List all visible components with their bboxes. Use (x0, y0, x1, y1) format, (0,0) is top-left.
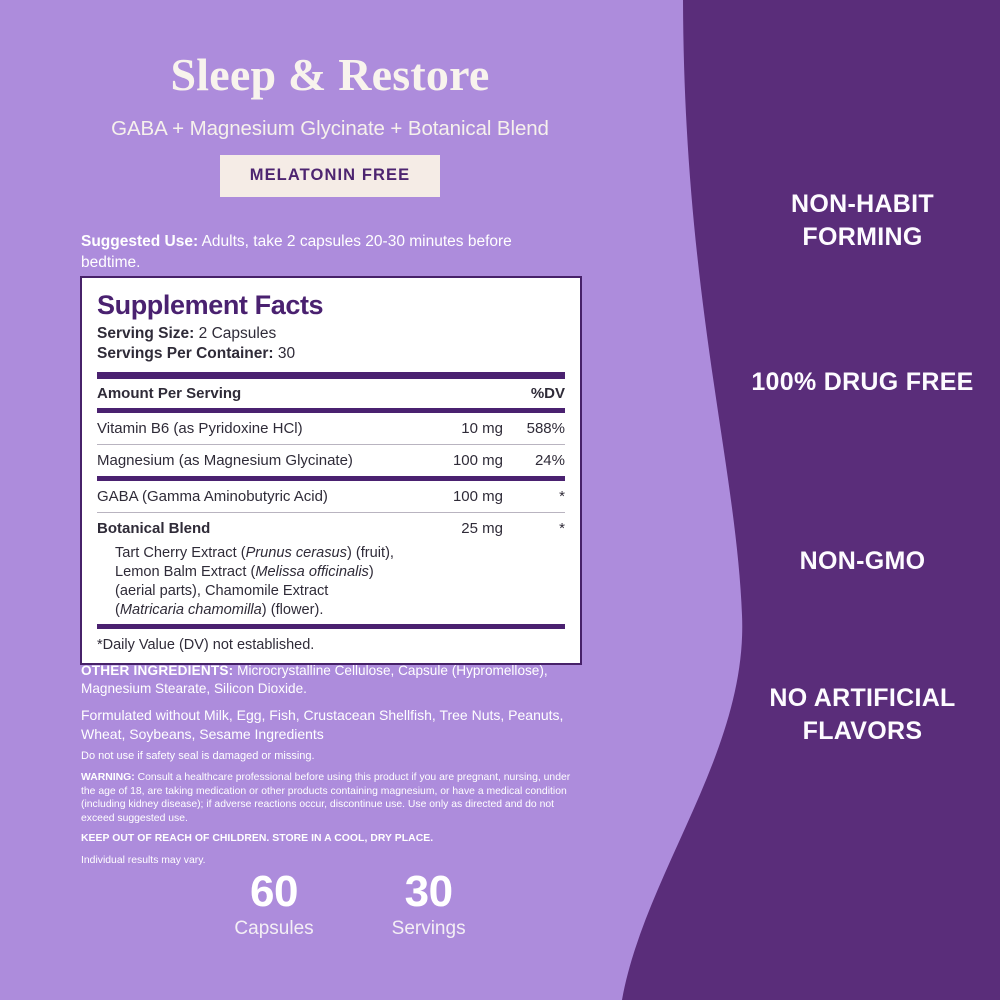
warning-label: WARNING: (81, 772, 135, 783)
dv-header: %DV (503, 384, 565, 403)
daily-value-footnote: *Daily Value (DV) not established. (97, 629, 565, 655)
supplement-facts-panel: Supplement Facts Serving Size: 2 Capsule… (80, 276, 582, 665)
safety-seal-note: Do not use if safety seal is damaged or … (81, 749, 581, 764)
product-subtitle: GABA + Magnesium Glycinate + Botanical B… (0, 116, 660, 142)
serving-size-line: Serving Size: 2 Capsules (97, 324, 565, 344)
keep-out-of-reach-statement: KEEP OUT OF REACH OF CHILDREN. STORE IN … (81, 832, 581, 846)
blend-line: Tart Cherry Extract (Prunus cerasus) (fr… (115, 544, 565, 563)
other-ingredients: OTHER INGREDIENTS: Microcrystalline Cell… (81, 662, 581, 698)
row-name: Botanical Blend (97, 519, 407, 538)
product-title: Sleep & Restore (0, 48, 660, 102)
row-name: Magnesium (as Magnesium Glycinate) (97, 451, 407, 470)
stat-label: Capsules (234, 916, 313, 942)
row-dv: 588% (503, 419, 565, 438)
serving-size-value: 2 Capsules (194, 325, 276, 342)
amount-per-serving-header: Amount Per Serving (97, 384, 407, 403)
divider-thick-top (97, 372, 565, 379)
row-dv: 24% (503, 451, 565, 470)
results-disclaimer: Individual results may vary. (81, 854, 581, 868)
row-name: Vitamin B6 (as Pyridoxine HCl) (97, 419, 407, 438)
servings-per-container-line: Servings Per Container: 30 (97, 344, 565, 364)
row-amount: 25 mg (407, 519, 503, 538)
row-name: GABA (Gamma Aminobutyric Acid) (97, 487, 407, 506)
row-amount: 100 mg (407, 487, 503, 506)
other-ingredients-label: OTHER INGREDIENTS: (81, 663, 233, 678)
suggested-use-label: Suggested Use: (81, 233, 198, 250)
label-front-panel: Sleep & Restore GABA + Magnesium Glycina… (0, 0, 660, 1000)
warning-statement: WARNING: Consult a healthcare profession… (81, 771, 581, 825)
row-amount: 10 mg (407, 419, 503, 438)
stat-label: Servings (392, 916, 466, 942)
badge-container: MELATONIN FREE (0, 155, 660, 197)
suggested-use-text: Suggested Use: Adults, take 2 capsules 2… (81, 231, 533, 273)
claims-panel: NON-HABIT FORMING 100% DRUG FREE NON-GMO… (740, 0, 985, 1000)
table-row: GABA (Gamma Aminobutyric Acid) 100 mg * (97, 481, 565, 512)
botanical-blend-detail: Tart Cherry Extract (Prunus cerasus) (fr… (97, 544, 565, 624)
row-amount: 100 mg (407, 451, 503, 470)
allergen-statement: Formulated without Milk, Egg, Fish, Crus… (81, 706, 581, 743)
servings-per-container-label: Servings Per Container: (97, 345, 274, 362)
warning-text: Consult a healthcare professional before… (81, 772, 570, 824)
stat-servings: 30 Servings (392, 868, 466, 942)
row-dv: * (503, 487, 565, 506)
melatonin-free-badge: MELATONIN FREE (220, 155, 441, 197)
claim-drug-free: 100% DRUG FREE (740, 366, 985, 399)
fine-print-block: OTHER INGREDIENTS: Microcrystalline Cell… (81, 662, 581, 868)
row-dv: * (503, 519, 565, 538)
claim-non-habit-forming: NON-HABIT FORMING (740, 188, 985, 254)
servings-per-container-value: 30 (274, 345, 296, 362)
serving-size-label: Serving Size: (97, 325, 194, 342)
blend-line: (Matricaria chamomilla) (flower). (115, 601, 565, 620)
stat-capsules: 60 Capsules (234, 868, 313, 942)
claim-non-gmo: NON-GMO (740, 545, 985, 578)
table-row: Botanical Blend 25 mg * (97, 513, 565, 544)
stat-number: 60 (234, 868, 313, 916)
blend-line: (aerial parts), Chamomile Extract (115, 582, 565, 601)
supplement-facts-title: Supplement Facts (97, 288, 565, 322)
bottom-stats: 60 Capsules 30 Servings (150, 868, 550, 942)
claim-no-artificial-flavors: NO ARTIFICIAL FLAVORS (740, 682, 985, 748)
table-row: Vitamin B6 (as Pyridoxine HCl) 10 mg 588… (97, 413, 565, 444)
blend-line: Lemon Balm Extract (Melissa officinalis) (115, 563, 565, 582)
table-column-headers: Amount Per Serving %DV (97, 379, 565, 408)
stat-number: 30 (392, 868, 466, 916)
table-row: Magnesium (as Magnesium Glycinate) 100 m… (97, 445, 565, 476)
